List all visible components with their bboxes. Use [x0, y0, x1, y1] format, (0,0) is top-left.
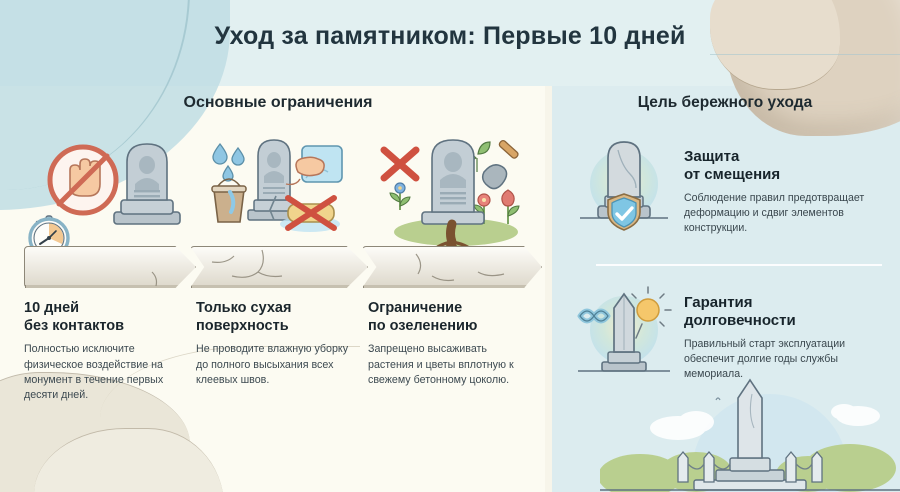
red-cross-icon: [384, 150, 416, 178]
obelisk-infinity-sun-icon: [576, 282, 672, 378]
infographic-page: Уход за памятником: Первые 10 дней Основ…: [0, 0, 900, 492]
no-touch-hand-icon: [50, 147, 116, 213]
stone-slab-step-2: [190, 246, 368, 288]
benefit-item-protection: Защита от смещения Соблюдение правил пре…: [576, 136, 892, 236]
gravestone-shield-check-icon: [576, 136, 672, 232]
restriction-card-3-title-line2: по озеленению: [368, 318, 477, 334]
stone-slab-row: [24, 246, 544, 292]
restriction-card-2: Только сухая поверхность Не проводите вл…: [196, 300, 356, 388]
gravestone-icon: [422, 140, 484, 224]
restriction-card-1: 10 дней без контактов Полностью исключит…: [24, 300, 184, 403]
illustration-planting-restriction: [372, 132, 540, 250]
restriction-card-2-title: Только сухая поверхность: [196, 300, 356, 335]
memorial-landscape-scene: [600, 372, 900, 492]
benefit-protection-body: Защита от смещения Соблюдение правил пре…: [684, 136, 892, 236]
benefit-protection-title-line2: от смещения: [684, 166, 780, 183]
benefit-protection-description: Соблюдение правил предотвращает деформац…: [684, 191, 892, 236]
page-title: Уход за памятником: Первые 10 дней: [0, 22, 900, 51]
benefit-protection-title-line1: Защита: [684, 148, 739, 165]
benefit-protection-title: Защита от смещения: [684, 148, 892, 185]
bucket-icon: [212, 179, 246, 222]
benefit-item-durability: Гарантия долговечности Правильный старт …: [576, 282, 892, 382]
restriction-card-1-description: Полностью исключите физическое воздейств…: [24, 342, 184, 403]
stone-slab-step-3: [362, 246, 542, 288]
section-heading-benefits: Цель бережного ухода: [560, 94, 890, 112]
gravestone-icon: [114, 144, 180, 224]
stopwatch-icon: [30, 216, 68, 250]
benefit-durability-title-line2: долговечности: [684, 312, 796, 329]
restriction-card-1-title: 10 дней без контактов: [24, 300, 184, 335]
restriction-card-3-title-line1: Ограничение: [368, 300, 462, 316]
flower-icon: [390, 183, 410, 210]
restriction-card-1-title-line1: 10 дней: [24, 300, 79, 316]
restriction-card-2-title-line1: Только сухая: [196, 300, 291, 316]
section-heading-restrictions: Основные ограничения: [28, 94, 528, 112]
panel-divider: [596, 264, 882, 266]
benefit-durability-title: Гарантия долговечности: [684, 294, 892, 331]
restriction-card-2-title-line2: поверхность: [196, 318, 289, 334]
restriction-card-1-title-line2: без контактов: [24, 318, 124, 334]
benefit-durability-title-line1: Гарантия: [684, 294, 753, 311]
flower-icon: [502, 190, 519, 224]
cleaning-cloth-icon: [286, 146, 342, 184]
stone-slab-step-1: [24, 246, 196, 288]
restriction-card-2-description: Не проводите влажную уборку до полного в…: [196, 342, 356, 388]
water-drops-icon: [213, 144, 244, 181]
bird-icon: [716, 398, 720, 400]
illustration-dry-surface: [200, 132, 368, 250]
benefit-durability-body: Гарантия долговечности Правильный старт …: [684, 282, 892, 382]
restriction-card-3-description: Запрещено высаживать растения и цветы вп…: [368, 342, 528, 388]
illustration-no-contact: [28, 132, 196, 250]
restriction-card-3: Ограничение по озеленению Запрещено выса…: [368, 300, 528, 388]
restriction-card-3-title: Ограничение по озеленению: [368, 300, 528, 335]
